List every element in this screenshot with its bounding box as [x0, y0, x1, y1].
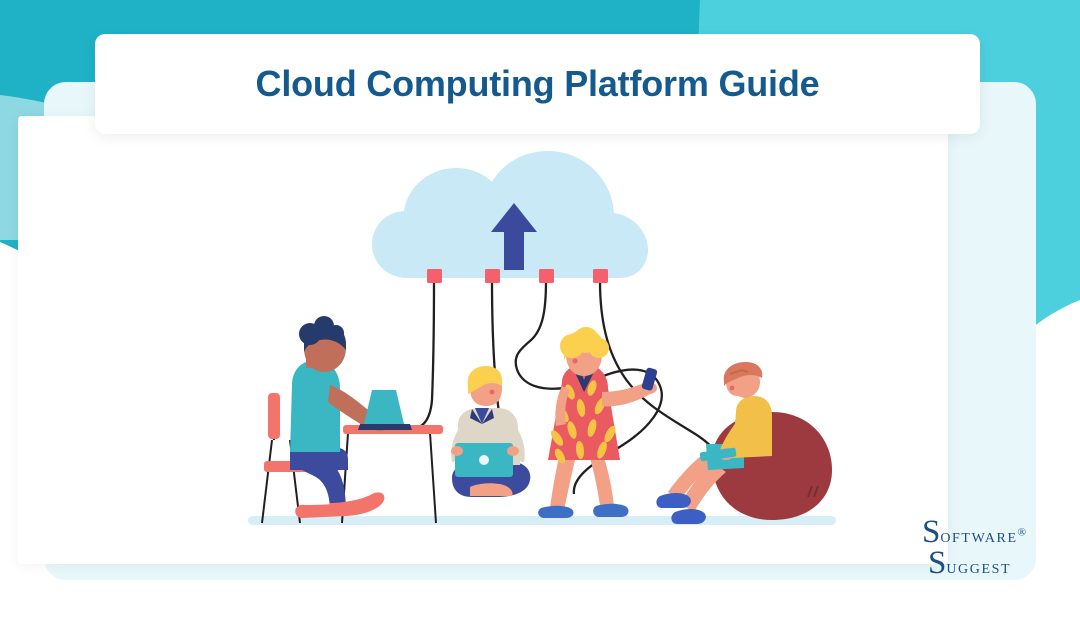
- registered-trademark-icon: ®: [1018, 527, 1026, 539]
- screenshot-stage: Cloud Computing Platform Guide Software®…: [0, 0, 1080, 630]
- page-title: Cloud Computing Platform Guide: [256, 63, 820, 105]
- white-content-panel: [18, 116, 948, 564]
- softwaresuggest-logo[interactable]: Software® Suggest: [922, 517, 1026, 578]
- logo-line-software: Software®: [922, 517, 1026, 547]
- logo-text-oftware: oftware: [940, 525, 1017, 547]
- logo-line-suggest: Suggest: [928, 548, 1026, 578]
- logo-cap-s2: S: [928, 545, 946, 581]
- logo-text-uggest: uggest: [946, 556, 1011, 578]
- title-card: Cloud Computing Platform Guide: [95, 34, 980, 134]
